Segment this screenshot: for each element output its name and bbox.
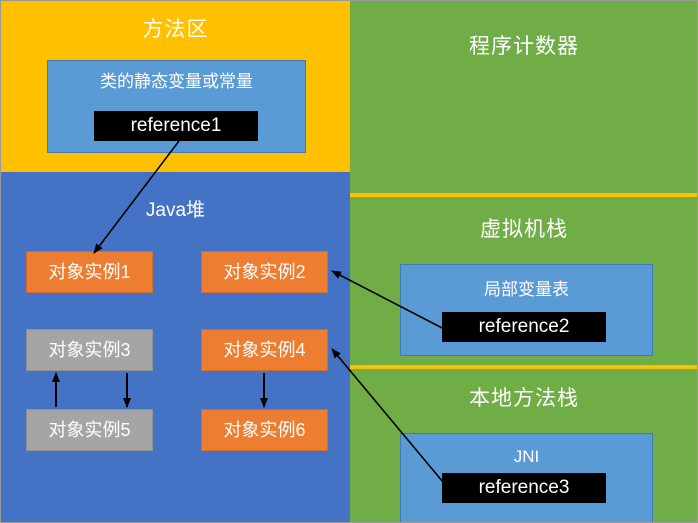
region-method-area-title: 方法区	[1, 17, 350, 43]
diagram-canvas: 方法区 Java堆 程序计数器 虚拟机栈 本地方法栈 类的静态变量或常量 ref…	[0, 0, 698, 523]
object-instance-box: 对象实例1	[26, 251, 153, 293]
reference3-box: reference3	[442, 473, 606, 503]
region-program-counter-title: 程序计数器	[350, 34, 698, 60]
object-instance-box: 对象实例4	[201, 329, 328, 371]
object-instance-box: 对象实例5	[26, 409, 153, 451]
region-vm-stack-title: 虚拟机栈	[350, 217, 698, 243]
local-variable-table-label: 局部变量表	[401, 279, 652, 301]
static-variables-label: 类的静态变量或常量	[48, 71, 305, 93]
region-native-method-stack-title: 本地方法栈	[350, 386, 698, 412]
object-instance-box: 对象实例3	[26, 329, 153, 371]
region-java-heap-title: Java堆	[1, 199, 350, 223]
object-instance-box: 对象实例6	[201, 409, 328, 451]
jni-label: JNI	[401, 446, 652, 468]
local-variable-table-box: 局部变量表	[400, 264, 653, 356]
region-program-counter: 程序计数器	[350, 1, 698, 193]
reference2-box: reference2	[442, 312, 606, 342]
object-instance-box: 对象实例2	[201, 251, 328, 293]
reference1-box: reference1	[94, 111, 258, 141]
